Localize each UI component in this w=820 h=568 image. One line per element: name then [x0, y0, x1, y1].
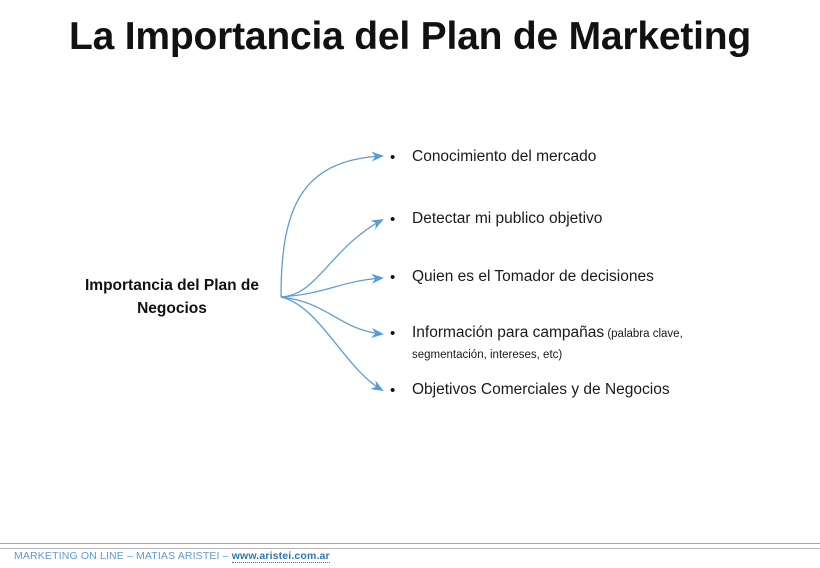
- bullet-icon: •: [390, 380, 412, 401]
- slide-canvas: La Importancia del Plan de Marketing Imp…: [0, 0, 820, 568]
- bullet-icon: •: [390, 209, 412, 230]
- list-item-text: Objetivos Comerciales y de Negocios: [412, 380, 670, 401]
- list-item: • Información para campañas (palabra cla…: [390, 323, 712, 364]
- list-item-text: Quien es el Tomador de decisiones: [412, 267, 654, 288]
- arrow-curve-1: [281, 156, 382, 297]
- footer-prefix: MARKETING ON LINE – MATIAS ARISTEI –: [14, 550, 232, 562]
- footer-divider: [0, 543, 820, 549]
- list-item-label: Objetivos Comerciales y de Negocios: [412, 381, 670, 398]
- bullet-icon: •: [390, 323, 412, 344]
- list-item: • Quien es el Tomador de decisiones: [390, 267, 654, 288]
- root-node-label: Importancia del Plan de Negocios: [62, 275, 282, 321]
- bullet-icon: •: [390, 147, 412, 168]
- list-item: • Detectar mi publico objetivo: [390, 209, 602, 230]
- list-item-text: Detectar mi publico objetivo: [412, 209, 602, 230]
- arrow-curve-4: [281, 297, 382, 334]
- arrow-curve-2: [281, 220, 382, 297]
- list-item-text: Información para campañas (palabra clave…: [412, 323, 712, 364]
- list-item-label: Quien es el Tomador de decisiones: [412, 268, 654, 285]
- footer: MARKETING ON LINE – MATIAS ARISTEI – www…: [14, 550, 330, 562]
- arrow-curve-3: [281, 278, 382, 297]
- bullet-icon: •: [390, 267, 412, 288]
- root-node-label-line1: Importancia del Plan de: [62, 275, 282, 298]
- list-item-label: Conocimiento del mercado: [412, 148, 596, 165]
- arrow-curve-5: [281, 297, 382, 390]
- bullet-list: • Conocimiento del mercado • Detectar mi…: [390, 0, 810, 568]
- list-item-label: Información para campañas: [412, 324, 604, 341]
- list-item: • Objetivos Comerciales y de Negocios: [390, 380, 670, 401]
- root-node-label-line2: Negocios: [62, 298, 282, 321]
- list-item-text: Conocimiento del mercado: [412, 147, 596, 168]
- list-item: • Conocimiento del mercado: [390, 147, 596, 168]
- list-item-label: Detectar mi publico objetivo: [412, 210, 602, 227]
- footer-website-link[interactable]: www.aristei.com.ar: [232, 550, 330, 563]
